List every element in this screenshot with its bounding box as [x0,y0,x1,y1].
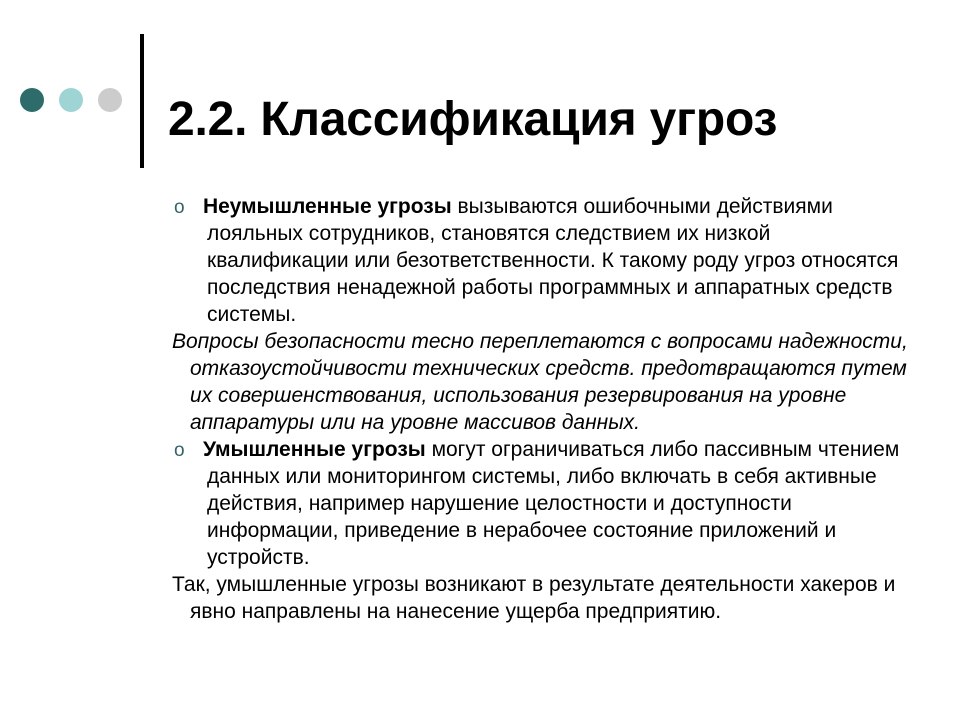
presentation-slide: 2.2. Классификация угроз o Неумышленные … [0,0,960,720]
bullet-paragraph-intentional-threats: o Умышленные угрозы могут ограничиваться… [0,436,960,571]
paragraph-lead: Умышленные угрозы [203,438,426,461]
dot-light-teal-icon [59,88,83,112]
paragraph-hacker-conclusion: Так, умышленные угрозы возникают в резул… [0,571,960,625]
dot-gray-icon [98,88,122,112]
slide-title: 2.2. Классификация угроз [168,92,948,147]
decorative-dots-group [20,88,122,112]
slide-body: o Неумышленные угрозы вызываются ошибочн… [0,193,960,625]
paragraph-lead: Неумышленные угрозы [203,195,452,218]
bullet-marker-icon: o [174,437,185,464]
paragraph-reliability-note: Вопросы безопасности тесно переплетаются… [0,328,960,436]
bullet-marker-icon: o [174,194,185,221]
paragraph-text: Умышленные угрозы могут ограничиваться л… [207,436,912,571]
paragraph-text: Неумышленные угрозы вызываются ошибочным… [207,193,912,328]
slide-header: 2.2. Классификация угроз [0,0,960,180]
title-divider-line [140,34,144,168]
bullet-paragraph-unintentional-threats: o Неумышленные угрозы вызываются ошибочн… [0,193,960,328]
dot-dark-teal-icon [20,88,44,112]
